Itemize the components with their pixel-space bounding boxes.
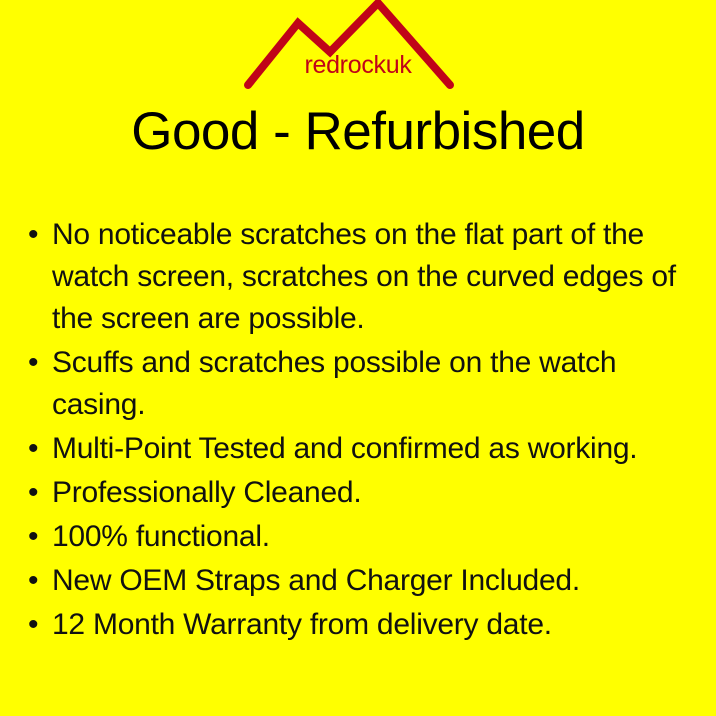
list-item: • 12 Month Warranty from delivery date. (22, 604, 702, 646)
list-item: • Multi-Point Tested and confirmed as wo… (22, 428, 702, 470)
bullet-point-icon: • (22, 560, 52, 602)
product-condition-card: redrockuk Good - Refurbished • No notice… (0, 0, 716, 716)
list-item: • Scuffs and scratches possible on the w… (22, 342, 702, 426)
bullet-point-icon: • (22, 472, 52, 514)
bullet-point-icon: • (22, 342, 52, 384)
list-item-text: 12 Month Warranty from delivery date. (52, 604, 702, 646)
list-item: • 100% functional. (22, 516, 702, 558)
bullet-point-icon: • (22, 428, 52, 470)
list-item: • No noticeable scratches on the flat pa… (22, 214, 702, 340)
bullet-point-icon: • (22, 516, 52, 558)
brand-logo: redrockuk (0, 0, 716, 96)
list-item: • Professionally Cleaned. (22, 472, 702, 514)
brand-wordmark: redrockuk (0, 53, 716, 78)
list-item-text: Multi-Point Tested and confirmed as work… (52, 428, 702, 470)
list-item-text: No noticeable scratches on the flat part… (52, 214, 702, 340)
page-title: Good - Refurbished (0, 103, 716, 161)
bullet-point-icon: • (22, 214, 52, 256)
list-item: • New OEM Straps and Charger Included. (22, 560, 702, 602)
bullet-point-icon: • (22, 604, 52, 646)
condition-bullet-list: • No noticeable scratches on the flat pa… (22, 214, 702, 648)
list-item-text: New OEM Straps and Charger Included. (52, 560, 702, 602)
list-item-text: Scuffs and scratches possible on the wat… (52, 342, 702, 426)
list-item-text: Professionally Cleaned. (52, 472, 702, 514)
list-item-text: 100% functional. (52, 516, 702, 558)
